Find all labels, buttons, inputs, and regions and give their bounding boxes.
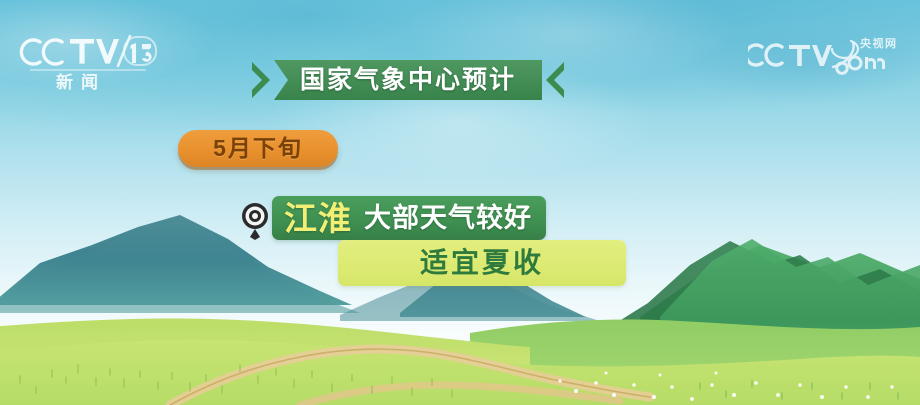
banner-bar: 国家气象中心预计 [274, 60, 542, 100]
forecast-region-label: 江淮 [284, 202, 352, 235]
chevron-left-icon [542, 60, 566, 100]
location-pin-icon [240, 199, 270, 241]
cctv-com-watermark: 央视网 [748, 33, 908, 77]
banner-title: 国家气象中心预计 [300, 68, 516, 93]
broadcast-screen: 新闻 央视网 [0, 0, 920, 405]
chevron-right-icon [250, 60, 274, 100]
forecast-harvest-label: 适宜夏收 [420, 249, 544, 277]
forecast-description-label: 大部天气较好 [364, 205, 532, 232]
date-range-tag: 5月下旬 [178, 130, 338, 167]
svg-text:央视网: 央视网 [860, 36, 898, 50]
forecast-harvest-bar: 适宜夏收 [338, 240, 626, 286]
forecast-primary-bar: 江淮 大部天气较好 [272, 196, 546, 240]
svg-text:新闻: 新闻 [56, 72, 106, 92]
header-banner: 国家气象中心预计 [250, 57, 566, 103]
cctv13-channel-logo: 新闻 [18, 30, 158, 92]
date-range-label: 5月下旬 [213, 137, 303, 160]
